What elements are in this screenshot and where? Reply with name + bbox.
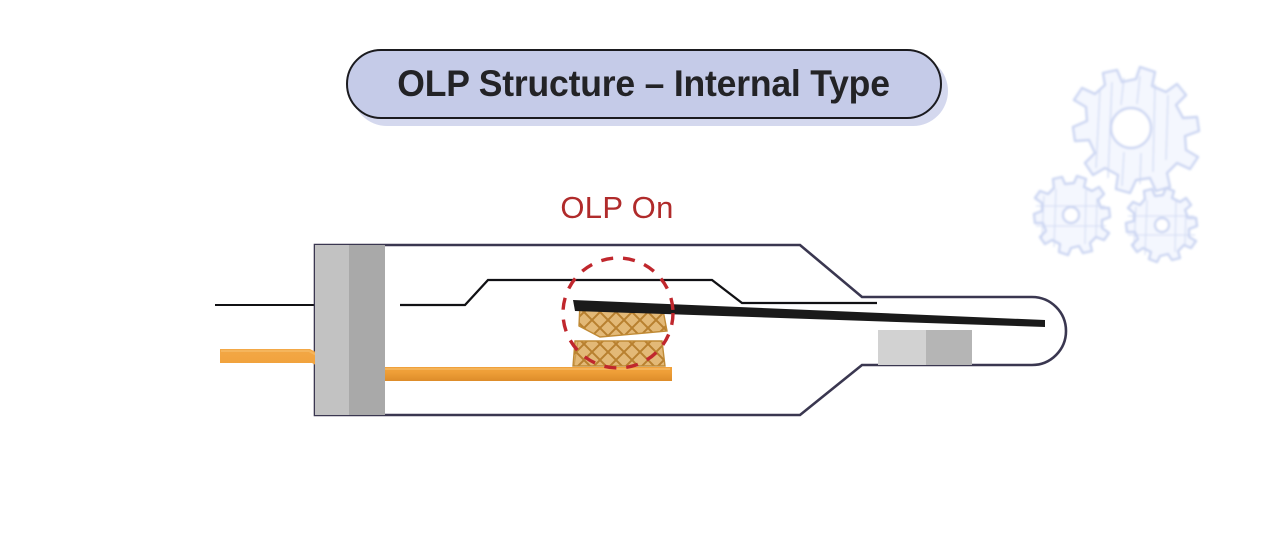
left-terminal-block: [315, 245, 385, 415]
right-terminal-block: [878, 330, 972, 365]
olp-cross-section-drawing: [0, 0, 1284, 560]
diagram-canvas: OLP Structure – Internal Type OLP On: [0, 0, 1284, 560]
lower-contact-pad: [573, 341, 665, 366]
